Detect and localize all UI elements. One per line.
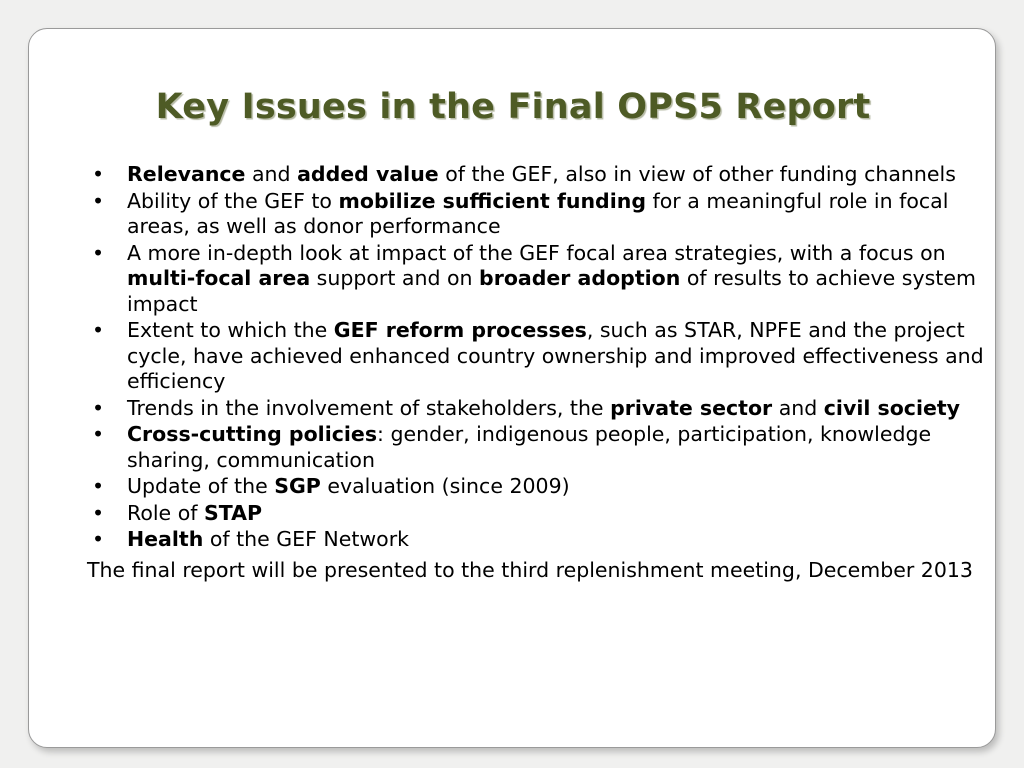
list-item: •Cross-cutting policies: gender, indigen… [59, 422, 996, 473]
bold-phrase: Relevance [127, 162, 245, 186]
text-run: Extent to which the [127, 318, 334, 342]
text-run: of the GEF, also in view of other fundin… [439, 162, 956, 186]
list-item-text: Health of the GEF Network [127, 527, 996, 553]
list-item-text: A more in-depth look at impact of the GE… [127, 241, 996, 318]
bold-phrase: Health [127, 527, 203, 551]
text-run: Ability of the GEF to [127, 189, 339, 213]
slide-body-content: •Relevance and added value of the GEF, a… [59, 162, 996, 583]
bold-phrase: broader adoption [479, 266, 680, 290]
bullet-icon: • [92, 527, 106, 553]
text-run: and [245, 162, 297, 186]
text-run: A more in-depth look at impact of the GE… [127, 241, 946, 265]
list-item: •Extent to which the GEF reform processe… [59, 318, 996, 395]
text-run: of the GEF Network [203, 527, 409, 551]
bullet-icon: • [92, 501, 106, 527]
bold-phrase: STAP [204, 501, 262, 525]
bullet-icon: • [92, 241, 106, 267]
bold-phrase: civil society [824, 396, 960, 420]
bullet-icon: • [92, 396, 106, 422]
bold-phrase: multi-focal area [127, 266, 310, 290]
list-item-text: Cross-cutting policies: gender, indigeno… [127, 422, 996, 473]
list-item: •Trends in the involvement of stakeholde… [59, 396, 996, 422]
bullet-icon: • [92, 422, 106, 448]
text-run: Role of [127, 501, 204, 525]
list-item: •Health of the GEF Network [59, 527, 996, 553]
list-item-text: Role of STAP [127, 501, 996, 527]
text-run: The final report will be presented to th… [87, 558, 973, 582]
text-run: evaluation (since 2009) [321, 474, 570, 498]
bold-phrase: mobilize sufficient funding [339, 189, 647, 213]
slide-card: Key Issues in the Final OPS5 Report •Rel… [28, 28, 996, 748]
text-run: Trends in the involvement of stakeholder… [127, 396, 610, 420]
text-run: Update of the [127, 474, 274, 498]
slide-surface: Key Issues in the Final OPS5 Report •Rel… [0, 0, 1024, 768]
list-item: •Relevance and added value of the GEF, a… [59, 162, 996, 188]
text-run: and [772, 396, 824, 420]
closing-paragraph: The final report will be presented to th… [59, 558, 996, 584]
bold-phrase: added value [297, 162, 439, 186]
list-item-text: Extent to which the GEF reform processes… [127, 318, 996, 395]
bullet-icon: • [92, 162, 106, 188]
list-item: •A more in-depth look at impact of the G… [59, 241, 996, 318]
bullet-icon: • [92, 189, 106, 215]
bold-phrase: SGP [274, 474, 321, 498]
list-item-text: Trends in the involvement of stakeholder… [127, 396, 996, 422]
bold-phrase: private sector [610, 396, 772, 420]
closing-paragraph-text: The final report will be presented to th… [87, 558, 996, 584]
text-run: support and on [310, 266, 479, 290]
list-item-text: Update of the SGP evaluation (since 2009… [127, 474, 996, 500]
list-item: •Update of the SGP evaluation (since 200… [59, 474, 996, 500]
page-title: Key Issues in the Final OPS5 Report [29, 87, 996, 127]
bold-phrase: GEF reform processes [334, 318, 587, 342]
bullet-icon: • [92, 318, 106, 344]
bullet-icon: • [92, 474, 106, 500]
bold-phrase: Cross-cutting policies [127, 422, 377, 446]
list-item: •Ability of the GEF to mobilize sufficie… [59, 189, 996, 240]
list-item: •Role of STAP [59, 501, 996, 527]
list-item-text: Relevance and added value of the GEF, al… [127, 162, 996, 188]
list-item-text: Ability of the GEF to mobilize sufficien… [127, 189, 996, 240]
